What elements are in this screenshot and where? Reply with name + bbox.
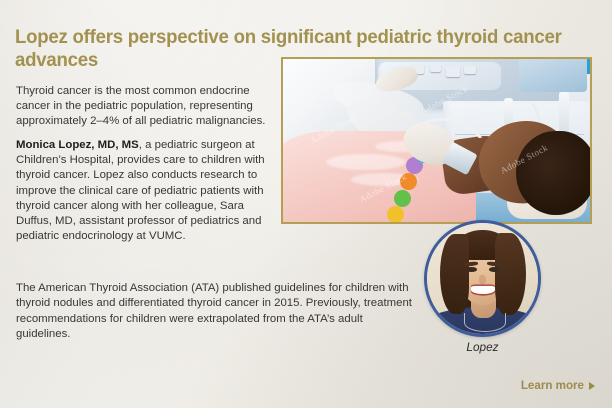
avatar — [424, 220, 541, 337]
portrait-hair-right — [495, 233, 526, 315]
portrait-smile — [471, 286, 494, 294]
photo-gown-flower — [397, 193, 408, 204]
article-body: Thyroid cancer is the most common endocr… — [16, 84, 282, 244]
paragraph-2: Monica Lopez, MD, MS, a pediatric surgeo… — [16, 138, 282, 244]
portrait-hair-left — [440, 234, 469, 314]
chevron-right-icon — [589, 382, 595, 390]
hero-photo-image: Adobe Stock Adobe Stock Adobe Stock Adob… — [283, 59, 590, 222]
paragraph-2-rest: , a pediatric surgeon at Children’s Hosp… — [16, 139, 265, 242]
portrait-caption: Lopez — [424, 340, 541, 354]
source-name: Monica Lopez, MD, MS — [16, 139, 139, 151]
paragraph-3: The American Thyroid Association (ATA) p… — [16, 281, 416, 341]
learn-more-link[interactable]: Learn more — [521, 379, 595, 392]
photo-child-hair — [516, 131, 590, 216]
portrait-necklace — [464, 313, 506, 332]
portrait-nose — [479, 275, 486, 285]
learn-more-label: Learn more — [521, 379, 584, 392]
article-promo-card: Lopez offers perspective on significant … — [0, 0, 612, 408]
page-title: Lopez offers perspective on significant … — [15, 26, 564, 71]
portrait-eye-left — [466, 267, 477, 272]
article-hero-photo: Adobe Stock Adobe Stock Adobe Stock Adob… — [281, 57, 592, 224]
paragraph-1: Thyroid cancer is the most common endocr… — [16, 84, 282, 129]
